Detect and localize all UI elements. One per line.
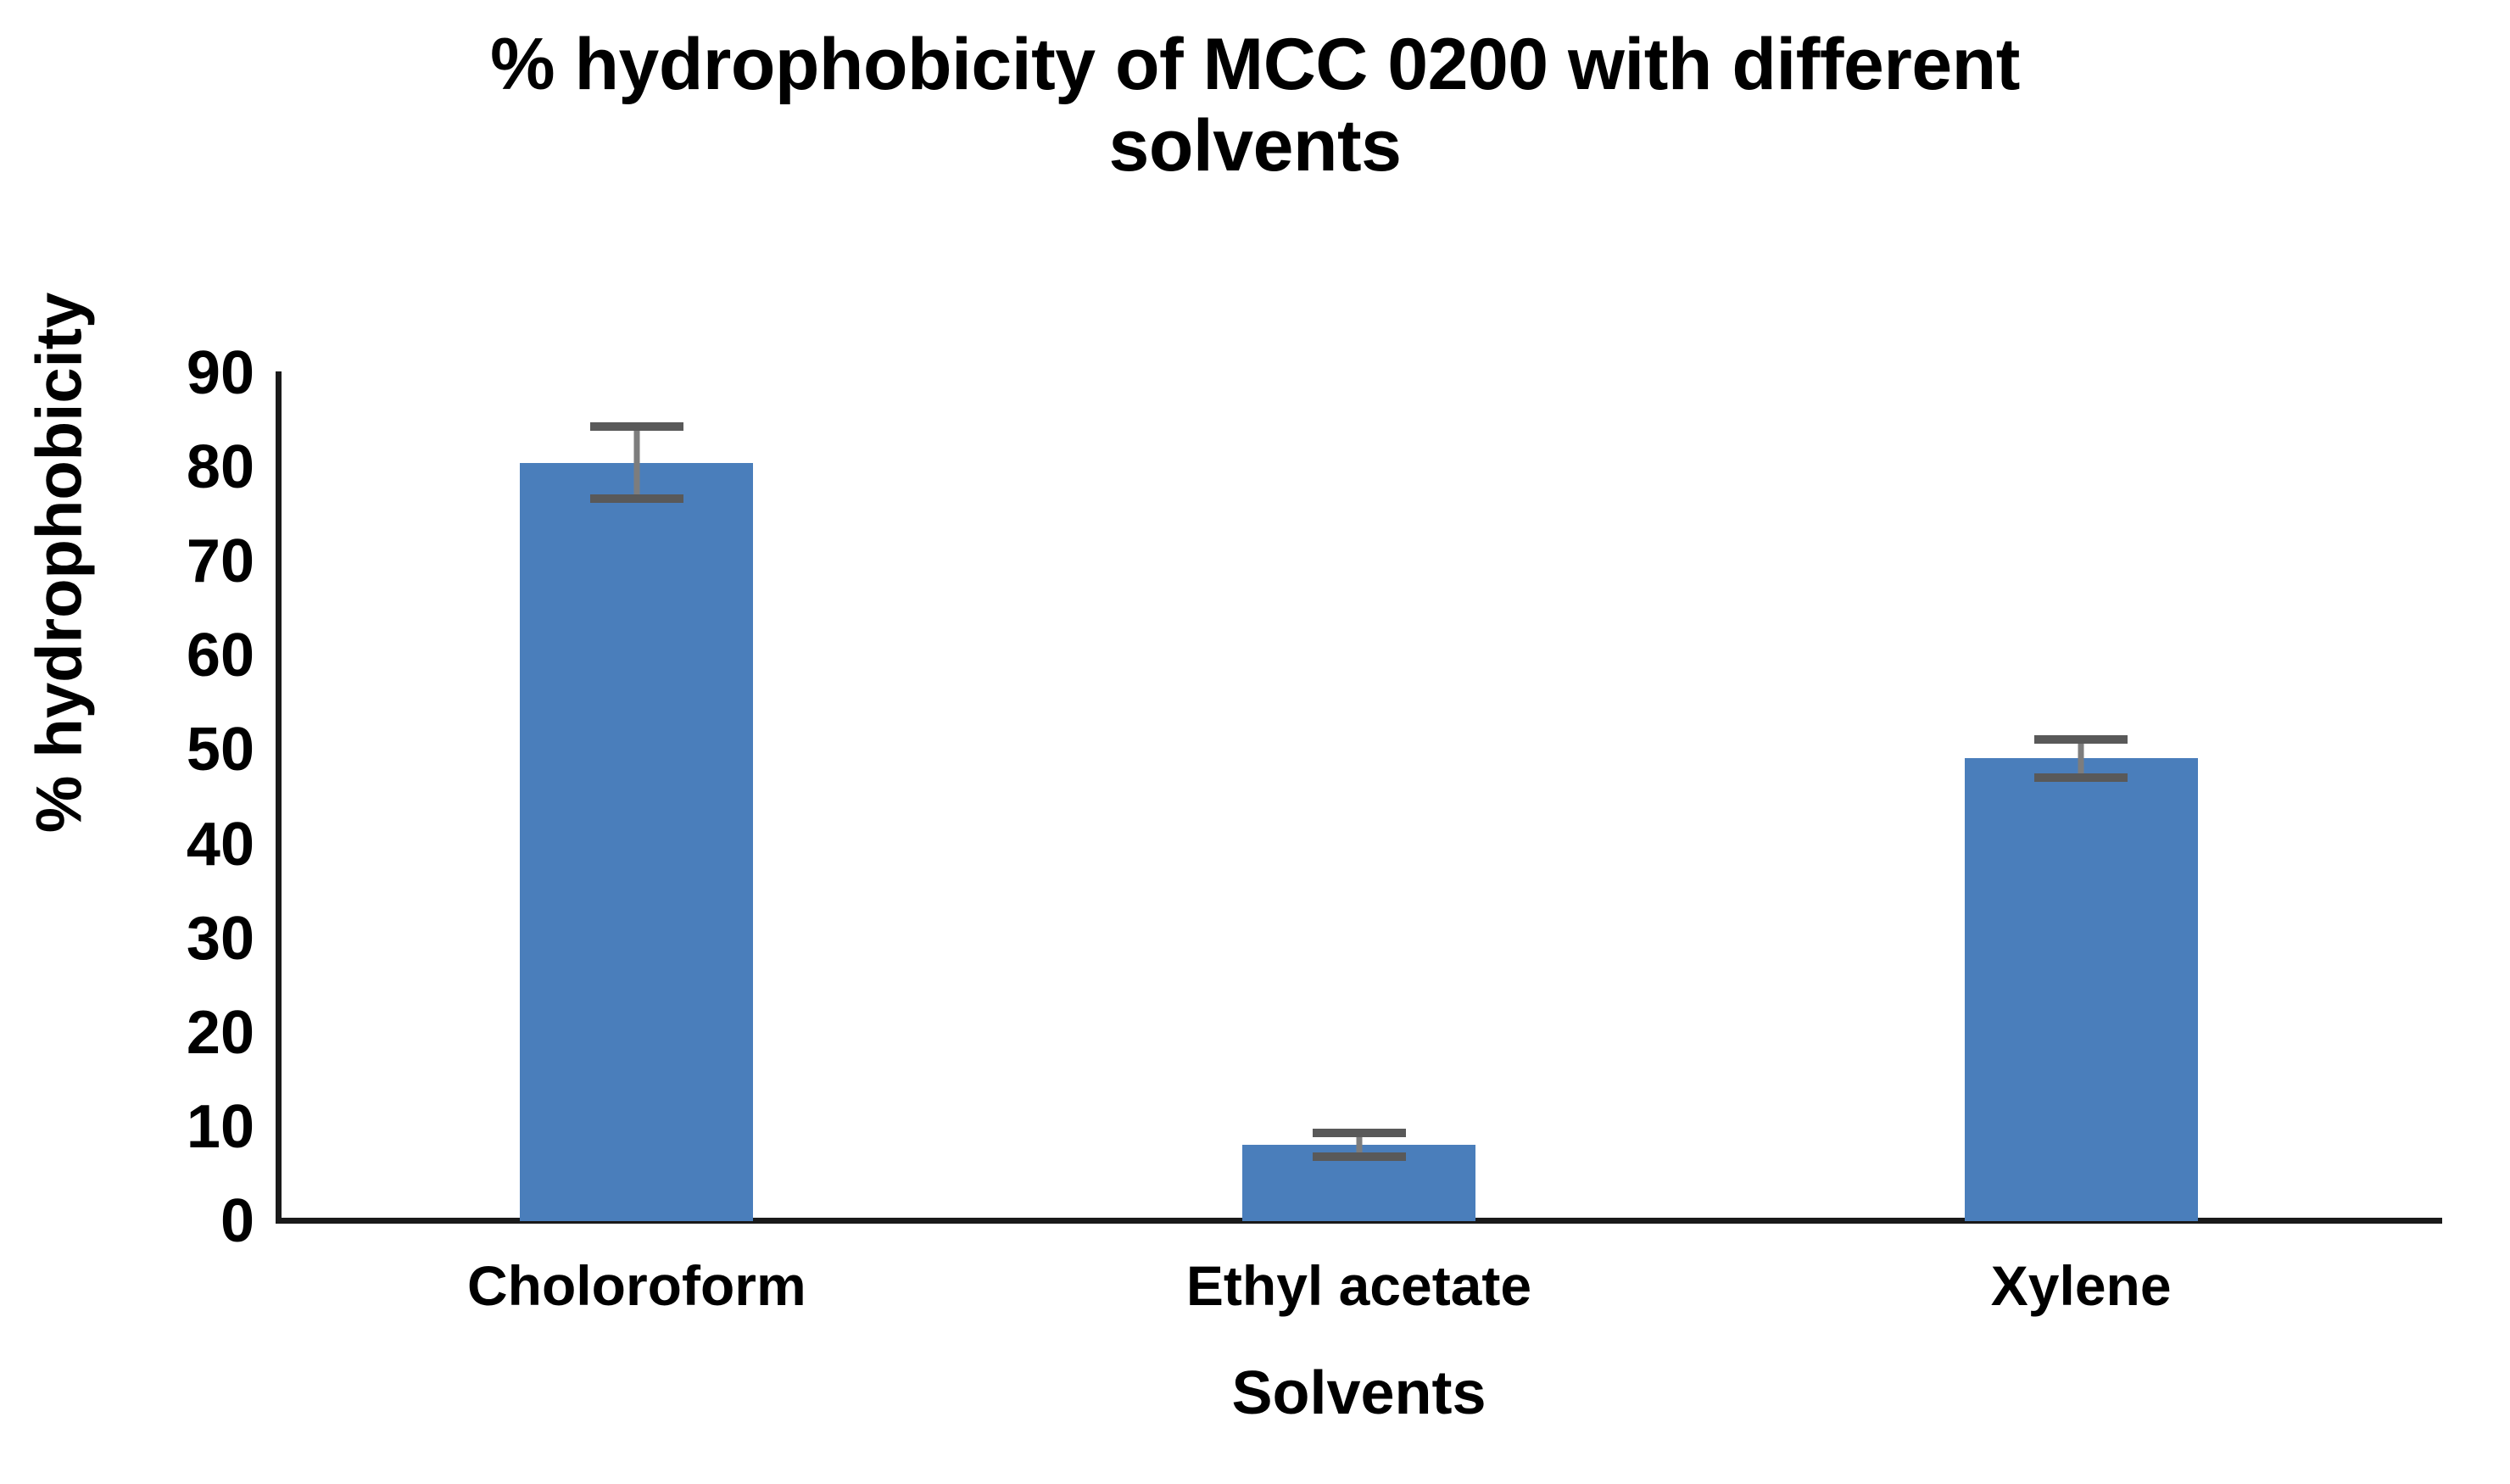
chart-title-line-2: solvents [153,105,2357,187]
bar-group [1965,373,2198,1221]
y-axis-title: % hydrophobicity [23,241,97,885]
error-bar [590,422,683,504]
y-tick-label: 90 [102,343,254,404]
error-bar-cap-bottom [2034,773,2128,782]
bar-group [1242,373,1475,1221]
x-axis-title: Solvents [276,1358,2442,1428]
y-tick-label: 70 [102,531,254,592]
x-category-label: Choloroform [276,1253,998,1318]
bar-group [520,373,753,1221]
bar-xylene[interactable] [1965,758,2198,1221]
error-bar-stem [633,422,639,504]
error-bar-cap-top [1313,1129,1406,1137]
error-bar-cap-top [590,422,683,431]
bar-choloroform[interactable] [520,463,753,1221]
y-tick-label: 50 [102,719,254,780]
y-tick-label: 40 [102,814,254,875]
y-tick-label: 20 [102,1002,254,1063]
chart-title: % hydrophobicity of MCC 0200 with differ… [153,24,2357,187]
y-tick-label: 10 [102,1096,254,1158]
error-bar [2034,735,2128,783]
error-bar-cap-top [2034,735,2128,744]
y-tick-label: 30 [102,908,254,969]
error-bar-cap-bottom [1313,1152,1406,1161]
chart-title-line-1: % hydrophobicity of MCC 0200 with differ… [153,24,2357,105]
x-category-label: Xylene [1720,1253,2442,1318]
x-category-label: Ethyl acetate [998,1253,1721,1318]
error-bar [1313,1129,1406,1161]
y-axis-tick-labels: 9080706050403020100 [93,0,254,1484]
y-tick-label: 60 [102,625,254,686]
y-tick-label: 80 [102,437,254,498]
chart-figure: % hydrophobicity of MCC 0200 with differ… [0,0,2510,1484]
y-tick-label: 0 [102,1191,254,1252]
plot-area [276,373,2442,1221]
error-bar-cap-bottom [590,494,683,503]
